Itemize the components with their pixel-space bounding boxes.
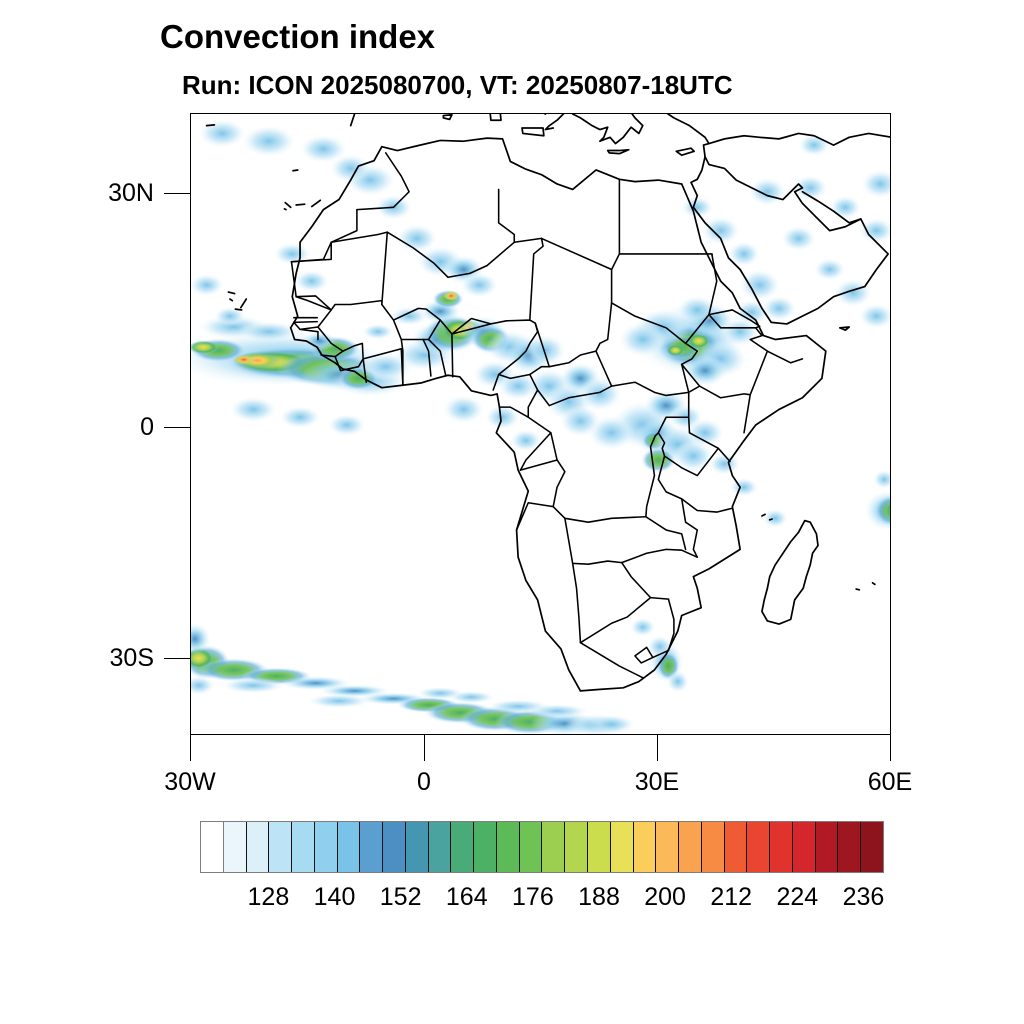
mauritius-reunion xyxy=(856,583,875,590)
colorbar-cell xyxy=(702,822,725,872)
lat-tick-0 xyxy=(164,427,190,428)
map-panel xyxy=(190,113,891,735)
colorbar-cell xyxy=(269,822,292,872)
canary-islands xyxy=(284,200,320,209)
colorbar-tick-label: 164 xyxy=(446,883,488,912)
colorbar-cell xyxy=(725,822,748,872)
colorbar-cell xyxy=(429,822,452,872)
colorbar-cell xyxy=(793,822,816,872)
colorbar-cell xyxy=(565,822,588,872)
madagascar-coastline xyxy=(762,521,818,624)
colorbar-cell xyxy=(292,822,315,872)
colorbar-cell xyxy=(838,822,861,872)
lon-tick-30e xyxy=(657,735,658,761)
colorbar-cell xyxy=(747,822,770,872)
colorbar-cell xyxy=(542,822,565,872)
lon-label-0: 0 xyxy=(374,768,474,797)
balearics xyxy=(443,115,452,120)
northwest-africa-convection xyxy=(199,119,498,297)
colorbar-cell xyxy=(679,822,702,872)
convection-field xyxy=(191,119,891,735)
run-valid-time-subtitle: Run: ICON 2025080700, VT: 20250807-18UTC xyxy=(182,70,733,101)
colorbar-cell xyxy=(451,822,474,872)
colorbar-cell xyxy=(247,822,270,872)
colorbar-tick-label: 200 xyxy=(644,883,686,912)
colorbar-cell xyxy=(224,822,247,872)
colorbar-tick-label: 188 xyxy=(578,883,620,912)
colorbar-cell xyxy=(861,822,883,872)
colorbar-tick-label: 152 xyxy=(380,883,422,912)
colorbar-cell xyxy=(634,822,657,872)
colorbar-cell xyxy=(201,822,224,872)
colorbar-cell xyxy=(520,822,543,872)
colorbar-tick-label: 224 xyxy=(777,883,819,912)
lon-tick-30w xyxy=(190,735,191,761)
lon-label-30e: 30E xyxy=(607,768,707,797)
map-canvas xyxy=(191,114,891,735)
lat-tick-30s xyxy=(164,658,190,659)
colorbar-cell xyxy=(497,822,520,872)
colorbar-cell xyxy=(656,822,679,872)
colorbar-tick-label: 140 xyxy=(314,883,356,912)
page-title: Convection index xyxy=(160,18,435,56)
lat-label-30n: 30N xyxy=(44,179,154,208)
colorbar-tick-label: 212 xyxy=(710,883,752,912)
turkey-levant-coast xyxy=(647,114,709,144)
colorbar-cell xyxy=(816,822,839,872)
colorbar-cell xyxy=(338,822,361,872)
colorbar-tick-label: 128 xyxy=(248,883,290,912)
indian-ocean-cell xyxy=(865,470,891,531)
cyprus xyxy=(676,148,694,155)
arabia-coastline xyxy=(691,133,891,207)
sardinia xyxy=(489,114,501,120)
lon-label-30w: 30W xyxy=(140,768,240,797)
lat-tick-30n xyxy=(164,193,190,194)
colorbar xyxy=(200,821,884,873)
ethiopian-highlands-convection xyxy=(619,296,769,386)
colorbar-cell xyxy=(611,822,634,872)
lat-label-30s: 30S xyxy=(44,644,154,673)
colorbar-cell xyxy=(406,822,429,872)
socotra xyxy=(840,327,849,330)
lon-tick-0 xyxy=(424,735,425,761)
colorbar-cell xyxy=(770,822,793,872)
colorbar-cell xyxy=(588,822,611,872)
colorbar-cell xyxy=(360,822,383,872)
crete xyxy=(608,150,629,154)
greece-balkans-coast xyxy=(573,114,643,144)
convection-index-figure: Convection index Run: ICON 2025080700, V… xyxy=(0,0,1024,1024)
lat-label-0: 0 xyxy=(44,413,154,442)
lon-tick-60e xyxy=(890,735,891,761)
colorbar-cell xyxy=(474,822,497,872)
colorbar-tick-labels: 128140152164176188200212224236 xyxy=(0,883,1024,917)
colorbar-cell xyxy=(315,822,338,872)
colorbar-cell xyxy=(383,822,406,872)
colorbar-tick-label: 236 xyxy=(843,883,885,912)
sicily xyxy=(522,128,544,136)
southern-ocean-front xyxy=(191,623,627,735)
lon-label-60e: 60E xyxy=(840,768,940,797)
colorbar-tick-label: 176 xyxy=(512,883,554,912)
